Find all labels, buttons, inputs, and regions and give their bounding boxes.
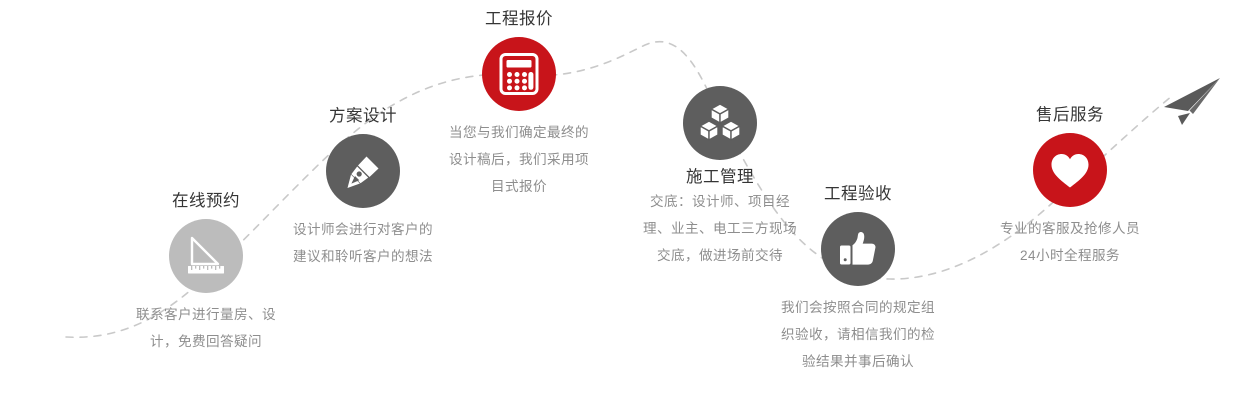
thumbs-up-icon xyxy=(821,212,895,286)
flow-step-after-sales-service[interactable]: 售后服务 专业的客服及抢修人员24小时全程服务 xyxy=(970,104,1170,269)
set-square-ruler-icon xyxy=(169,219,243,293)
fountain-pen-icon xyxy=(326,134,400,208)
step-title: 售后服务 xyxy=(970,104,1170,126)
step-description: 当您与我们确定最终的设计稿后，我们采用项目式报价 xyxy=(444,119,594,200)
flow-step-project-quotation[interactable]: 工程报价 当您与我们确定最终的设计稿后，我们采用项目 xyxy=(419,8,619,200)
step-description: 我们会按照合同的规定组织验收，请相信我们的检验结果并事后确认 xyxy=(779,294,937,375)
step-description: 设计师会进行对客户的建议和聆听客户的想法 xyxy=(288,216,438,270)
step-description: 专业的客服及抢修人员24小时全程服务 xyxy=(995,215,1145,269)
cubes-icon xyxy=(683,86,757,160)
paper-plane-icon xyxy=(1148,76,1226,138)
heart-icon xyxy=(1033,133,1107,207)
flow-step-project-acceptance[interactable]: 工程验收 我们会按照合同的规定组织验收，请相信我们的检验结果并事后确认 xyxy=(758,183,958,375)
step-description: 联系客户进行量房、设计，免费回答疑问 xyxy=(130,301,282,355)
step-title: 工程报价 xyxy=(419,8,619,30)
service-process-flow-diagram: 在线预约 xyxy=(0,0,1245,402)
calculator-icon xyxy=(482,37,556,111)
step-title: 工程验收 xyxy=(758,183,958,205)
